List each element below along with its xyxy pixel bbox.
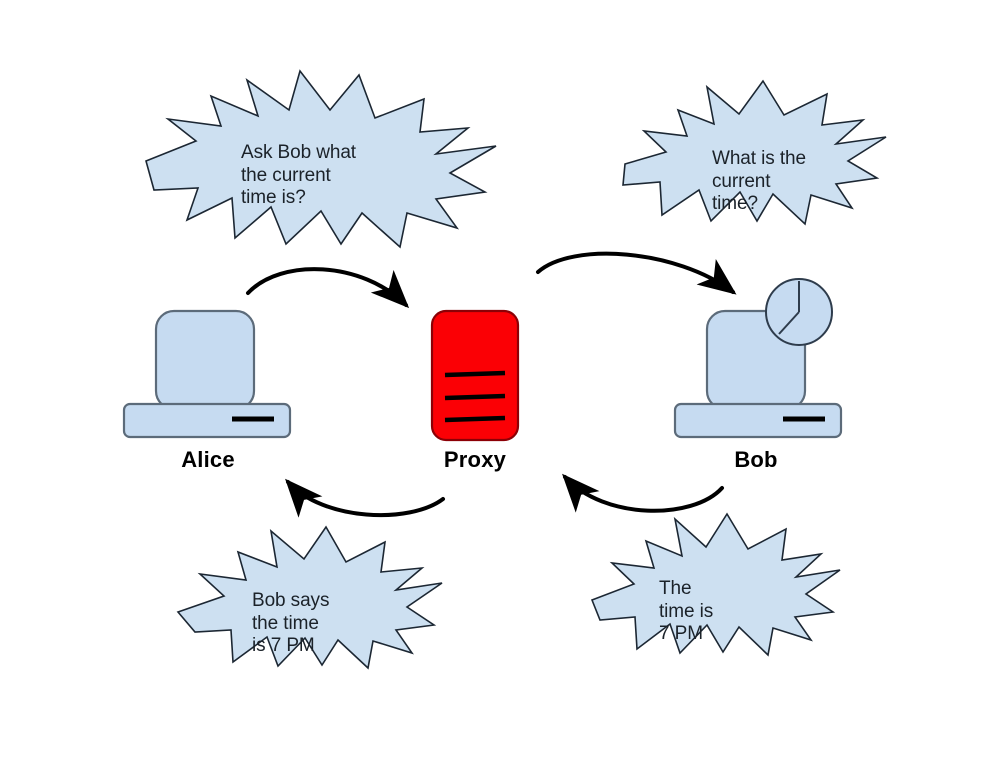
speech-bubble-bob-answer-text: The time is 7 PM <box>659 578 713 646</box>
proxy-line-2 <box>445 396 505 398</box>
clock-icon <box>766 279 832 345</box>
diagram-graphics <box>0 0 1000 758</box>
speech-bubble-alice-ask-text: Ask Bob what the current time is? <box>241 142 356 210</box>
alice-monitor <box>156 311 254 409</box>
proxy-line-3 <box>445 418 505 420</box>
node-label-proxy: Proxy <box>395 447 555 473</box>
arrow-alice-to-proxy <box>248 269 406 305</box>
arrow-proxy-to-bob <box>538 254 733 292</box>
node-alice <box>124 311 290 437</box>
node-label-alice: Alice <box>128 447 288 473</box>
proxy-line-1 <box>445 373 505 375</box>
arrow-proxy-to-alice <box>288 482 443 515</box>
diagram-canvas: Ask Bob what the current time is? What i… <box>0 0 1000 758</box>
node-bob <box>675 279 841 437</box>
node-label-bob: Bob <box>676 447 836 473</box>
node-proxy <box>432 311 518 440</box>
speech-bubble-bob-ask-text: What is the current time? <box>712 148 806 216</box>
speech-bubble-alice-answer-text: Bob says the time is 7 PM <box>252 590 329 658</box>
speech-bubble-bob-answer <box>592 514 840 655</box>
arrow-bob-to-proxy <box>565 477 722 511</box>
